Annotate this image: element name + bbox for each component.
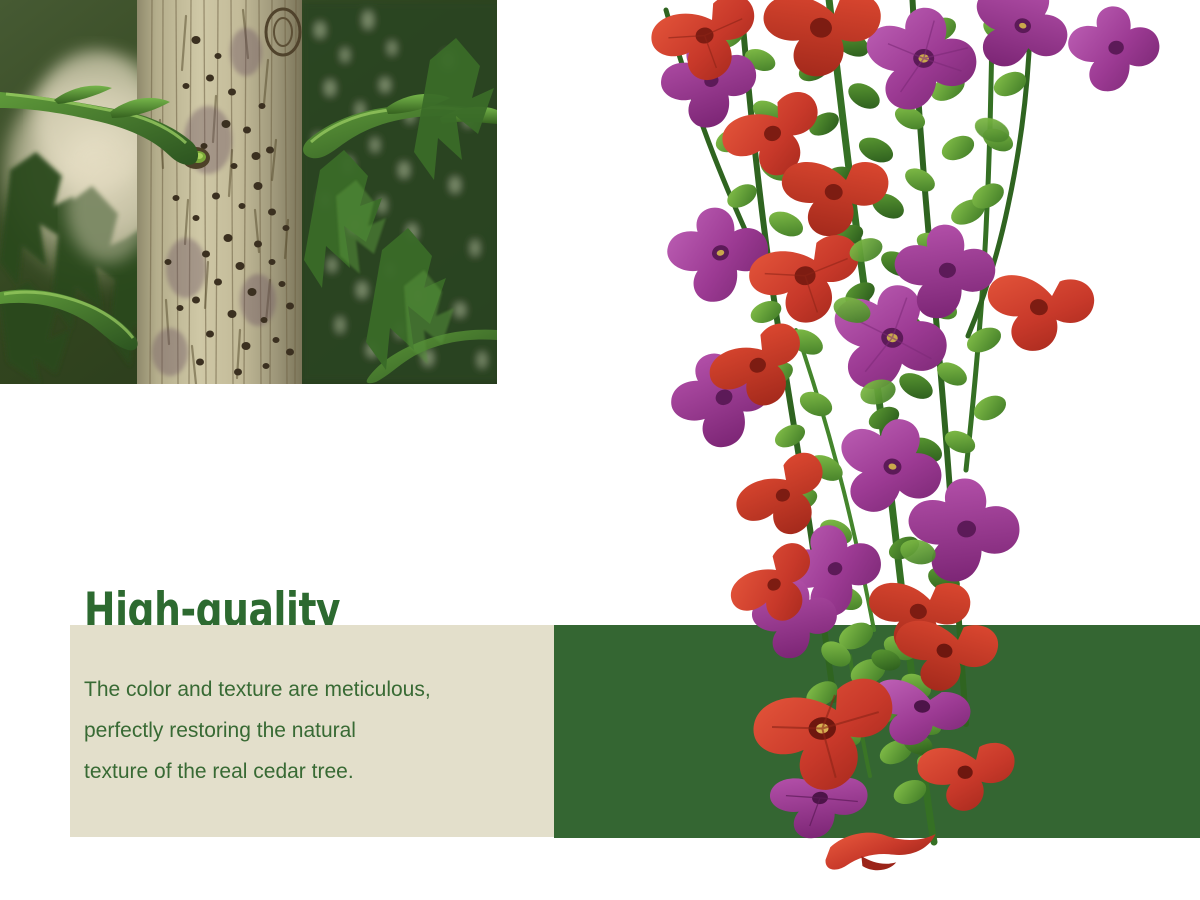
tree-pole-photo-graphic	[0, 0, 497, 384]
marketing-banner: High-quality plastic tree pole The color…	[0, 0, 1200, 900]
description-panel: The color and texture are meticulous, pe…	[70, 625, 554, 837]
description-text: The color and texture are meticulous, pe…	[84, 669, 554, 792]
product-photo-tree-pole	[0, 0, 497, 384]
green-accent-band	[554, 625, 1200, 838]
